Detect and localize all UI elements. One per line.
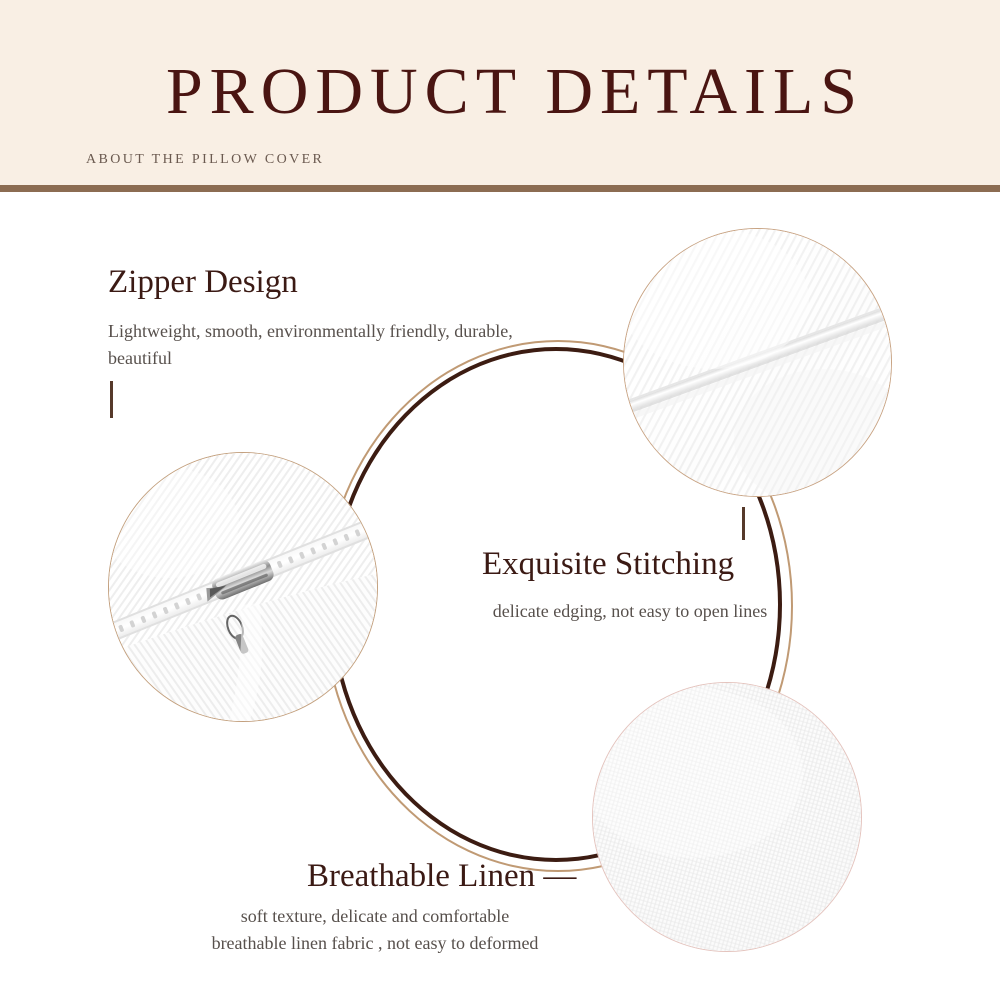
stitching-tick-marker xyxy=(742,507,745,540)
page-subtitle: ABOUT THE PILLOW COVER xyxy=(86,152,324,168)
stitching-photo xyxy=(623,228,892,497)
zipper-photo xyxy=(108,452,378,722)
zipper-tick-marker xyxy=(110,381,113,418)
header-divider xyxy=(0,185,1000,192)
stitching-heading: Exquisite Stitching xyxy=(482,546,734,583)
linen-description-line-1: soft texture, delicate and comfortable xyxy=(150,903,600,930)
linen-heading: Breathable Linen — xyxy=(307,858,576,895)
zipper-description: Lightweight, smooth, environmentally fri… xyxy=(108,318,528,372)
stitching-description: delicate edging, not easy to open lines xyxy=(420,598,840,625)
linen-photo xyxy=(592,682,862,952)
zipper-heading: Zipper Design xyxy=(108,264,298,301)
page-title: PRODUCT DETAILS xyxy=(85,56,945,128)
linen-description-line-2: breathable linen fabric , not easy to de… xyxy=(150,930,600,957)
linen-description: soft texture, delicate and comfortable b… xyxy=(150,903,600,957)
product-details-page: PRODUCT DETAILS ABOUT THE PILLOW COVER xyxy=(0,0,1000,1000)
